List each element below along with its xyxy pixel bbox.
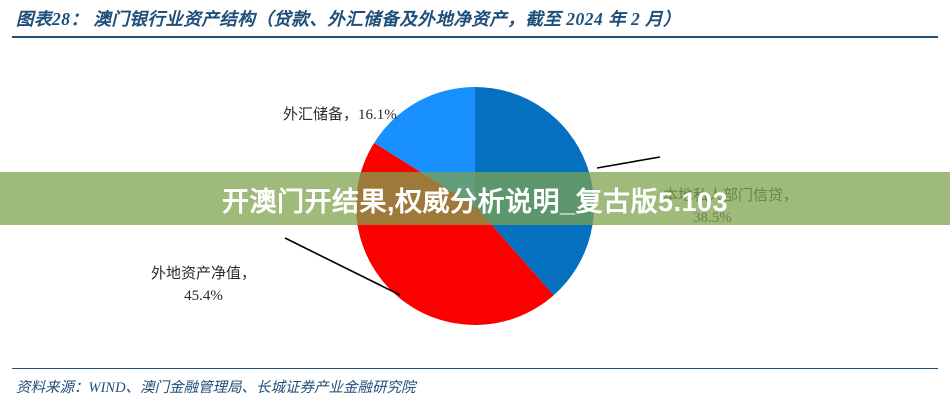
pie-label-reserves: 外汇储备，16.1% [283,106,397,126]
leader-line-credit [597,157,660,168]
pie-label-external: 外地资产净值， 45.4% [151,265,256,306]
figure-container: 图表28： 澳门银行业资产结构（贷款、外汇储备及外地净资产，截至 2024 年 … [0,0,950,400]
header-divider [12,36,938,38]
footer-divider [12,368,938,369]
figure-header: 图表28： 澳门银行业资产结构（贷款、外汇储备及外地净资产，截至 2024 年 … [0,0,950,40]
pie-label-external-name: 外地资产净值， [151,266,256,282]
source-note: 资料来源：WIND、澳门金融管理局、长城证券产业金融研究院 [16,376,416,397]
pie-label-external-pct: 45.4% [151,287,256,307]
page-title: 图表28： 澳门银行业资产结构（贷款、外汇储备及外地净资产，截至 2024 年 … [16,6,681,31]
watermark-text: 开澳门开结果,权威分析说明_复古版5.103 [0,180,950,219]
